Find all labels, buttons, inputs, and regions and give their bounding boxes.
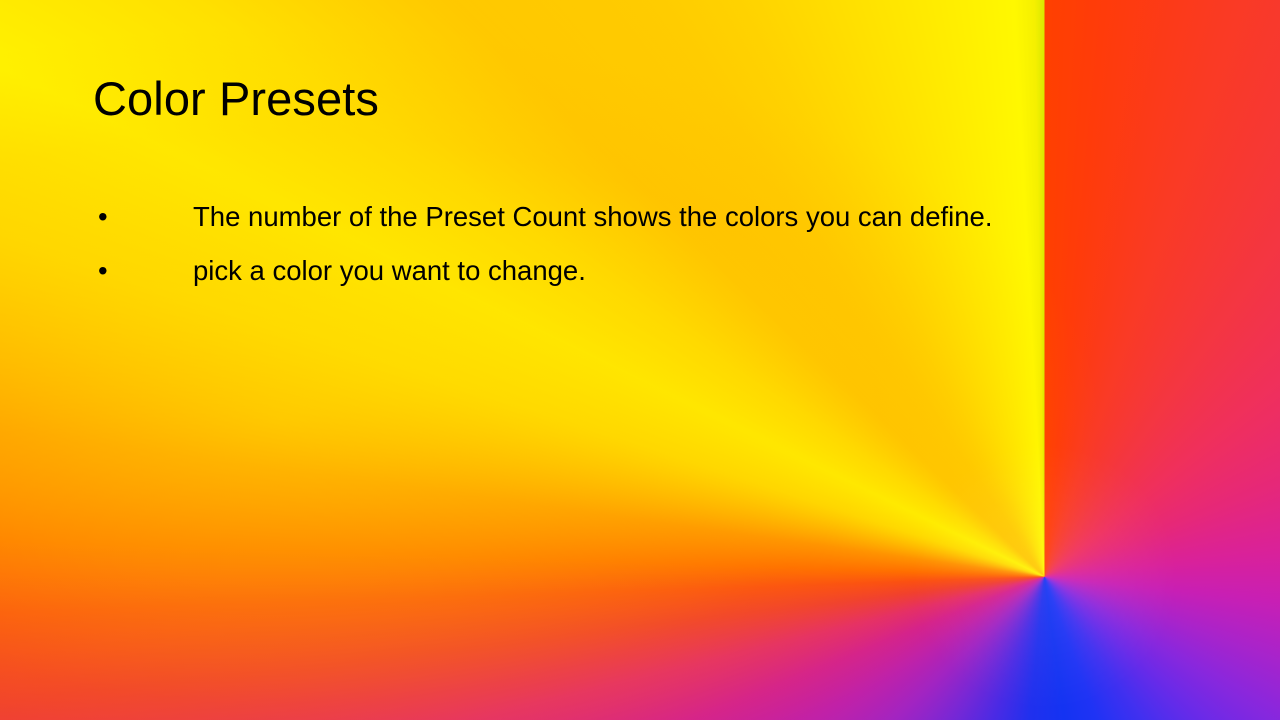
slide-content: Color Presets • The number of the Preset… — [0, 0, 1280, 720]
list-item: • pick a color you want to change. — [93, 244, 1203, 298]
bullet-icon: • — [98, 190, 112, 244]
list-item-label: pick a color you want to change. — [193, 255, 586, 286]
list-item-label: The number of the Preset Count shows the… — [193, 201, 992, 232]
slide-body-list: • The number of the Preset Count shows t… — [93, 190, 1203, 298]
bullet-icon: • — [98, 244, 112, 298]
list-item: • The number of the Preset Count shows t… — [93, 190, 1203, 244]
slide-title: Color Presets — [93, 72, 379, 126]
presentation-slide: Color Presets • The number of the Preset… — [0, 0, 1280, 720]
